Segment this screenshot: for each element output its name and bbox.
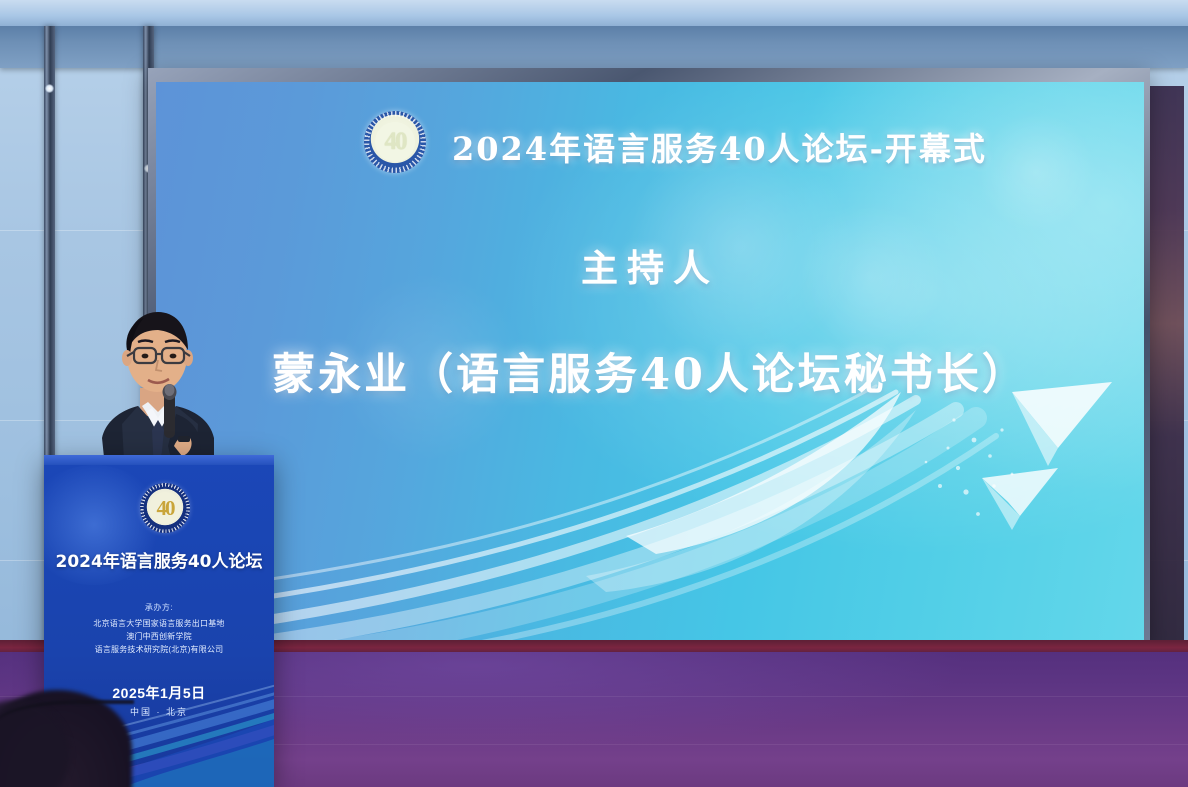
podium-title: 2024年语言服务40人论坛 <box>44 547 274 572</box>
podium-organizers: 北京语言大学国家语言服务出口基地 澳门中西创新学院 语言服务技术研究院(北京)有… <box>44 617 274 656</box>
bokeh-circle <box>976 112 1096 232</box>
seal-number: 40 <box>375 122 415 162</box>
conference-photo-scene: 40 2024年语言服务40人论坛-开幕式 主持人 蒙永业（语言服务40人论坛秘… <box>0 0 1188 787</box>
paper-plane-icon <box>862 382 1122 572</box>
cable <box>0 700 134 744</box>
forum-seal-icon: 40 <box>364 111 426 173</box>
wall-upper-band <box>0 26 1188 68</box>
seal-number: 40 <box>149 492 181 524</box>
podium-host-label: 承办方: <box>44 602 274 613</box>
podium-organizer-item: 北京语言大学国家语言服务出口基地 <box>44 617 274 630</box>
podium-organizer-item: 澳门中西创新学院 <box>44 630 274 643</box>
ceiling-strip <box>0 0 1188 26</box>
forum-seal-icon: 40 <box>140 483 190 533</box>
slide-title: 2024年语言服务40人论坛-开幕式 <box>452 124 987 170</box>
slide-host-name: 蒙永业（语言服务40人论坛秘书长） <box>156 340 1144 402</box>
podium-top-edge <box>44 455 274 465</box>
stage-side-column <box>1150 86 1184 652</box>
podium-organizer-item: 语言服务技术研究院(北京)有限公司 <box>44 643 274 656</box>
led-screen: 40 2024年语言服务40人论坛-开幕式 主持人 蒙永业（语言服务40人论坛秘… <box>156 82 1144 640</box>
wall-light-dot <box>45 84 54 93</box>
slide-role-label: 主持人 <box>156 238 1144 292</box>
